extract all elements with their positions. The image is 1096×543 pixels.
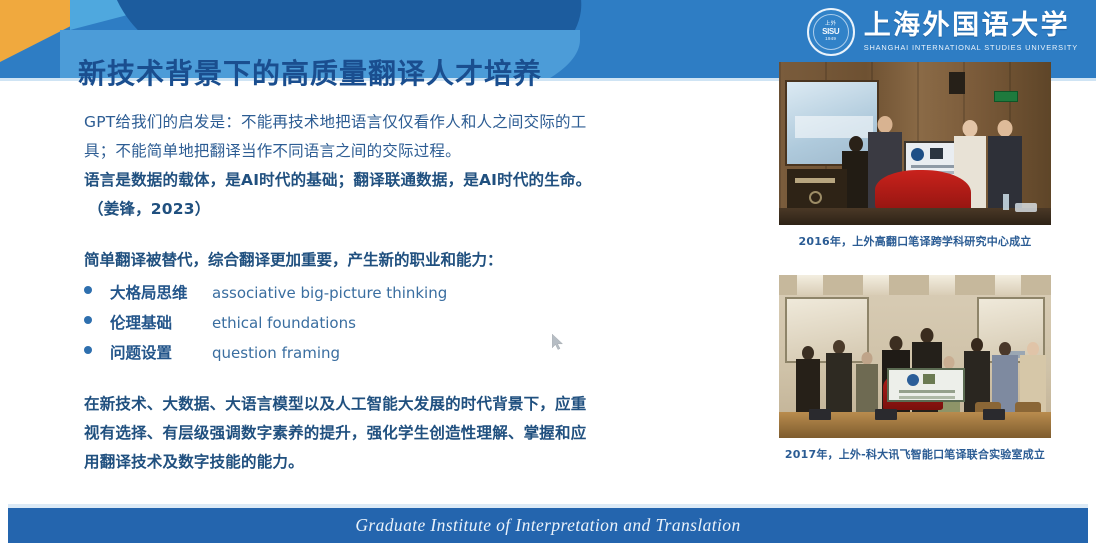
mouse-cursor-icon xyxy=(552,334,564,350)
photo2-person-head xyxy=(1027,342,1039,356)
slide-title: 新技术背景下的高质量翻译人才培养 xyxy=(78,52,542,92)
photo1-person-head xyxy=(998,120,1013,137)
list-item: 大格局思维 associative big-picture thinking xyxy=(84,278,724,308)
photo2-plaque-badge xyxy=(923,374,935,384)
photo2-laptop xyxy=(983,409,1005,420)
university-seal-icon: 上外 SISU 1949 xyxy=(807,8,855,56)
logo-name-cn: 上海外国语大学 xyxy=(864,12,1071,40)
photo2-plaque-seal-icon xyxy=(907,374,919,386)
list-item: 问题设置 question framing xyxy=(84,338,724,368)
list-item-label-cn: 问题设置 xyxy=(110,338,206,368)
photo2-person-body xyxy=(796,359,820,413)
photo2-plaque-text-lines xyxy=(899,390,955,393)
photo1-front-table xyxy=(779,208,1051,225)
photo2-ceiling-light xyxy=(797,275,823,295)
bullet-dot-icon xyxy=(84,286,92,294)
photo2-person-head xyxy=(971,338,983,352)
photo2-person xyxy=(855,352,879,412)
photo1-person-head xyxy=(849,136,863,152)
photo1-podium-seal-icon xyxy=(809,191,822,204)
closing-line-2: 视有选择、有层级强调数字素养的提升，强化学生创造性理解、掌握和应 xyxy=(84,419,724,448)
photo1-plaque-badge xyxy=(930,148,943,159)
ceremony-photo-2017 xyxy=(779,275,1051,438)
photo1-person-head xyxy=(963,120,978,137)
footer-institute-name: Graduate Institute of Interpretation and… xyxy=(355,515,740,536)
photo1-caption: 2016年，上外高翻口笔译跨学科研究中心成立 xyxy=(779,233,1051,249)
photo1-screen-content xyxy=(795,116,873,138)
quote-line-2: 具；不能简单地把翻译当作不同语言之间的交际过程。 xyxy=(84,137,724,166)
photo2-plaque xyxy=(887,368,965,402)
closing-line-1: 在新技术、大数据、大语言模型以及人工智能大发展的时代背景下，应重 xyxy=(84,390,724,419)
closing-line-3: 用翻译技术及数字技能的能力。 xyxy=(84,448,724,477)
ceremony-photo-2016 xyxy=(779,62,1051,225)
photo2-person-head xyxy=(890,336,903,351)
photo1-plaque-text-lines xyxy=(911,165,957,168)
photo2-person-head xyxy=(802,346,814,360)
photo2-ceiling-light xyxy=(929,275,955,295)
photo2-ceiling-light xyxy=(863,275,889,295)
photo2-person-head xyxy=(833,340,845,354)
capability-list-intro: 简单翻译被替代，综合翻译更加重要，产生新的职业和能力： xyxy=(84,246,724,275)
list-item-label-en: ethical foundations xyxy=(212,308,356,338)
photo1-cups xyxy=(1015,203,1037,212)
photo2-laptop xyxy=(875,409,897,420)
photo1-exit-sign xyxy=(994,91,1018,102)
photo1-podium xyxy=(787,169,847,209)
quote-citation: （姜锋，2023） xyxy=(88,195,724,224)
photo2-person xyxy=(825,340,853,412)
seal-year: 1949 xyxy=(825,37,836,42)
quote-line-1: GPT给我们的启发是：不能再技术地把语言仅仅看作人和人之间交际的工 xyxy=(84,108,724,137)
photo2-person xyxy=(963,338,991,412)
photo2-person-body xyxy=(856,364,878,413)
content-spacer xyxy=(84,224,724,246)
bullet-dot-icon xyxy=(84,316,92,324)
seal-initials: SISU xyxy=(822,28,839,36)
list-item-label-en: question framing xyxy=(212,338,340,368)
seal-top-text: 上外 xyxy=(825,22,837,28)
photo1-plaque-seal-icon xyxy=(911,148,924,161)
photo-figure-1: 2016年，上外高翻口笔译跨学科研究中心成立 xyxy=(779,62,1051,249)
list-item-label-cn: 大格局思维 xyxy=(110,278,206,308)
photo1-person-head xyxy=(878,116,893,133)
list-item: 伦理基础 ethical foundations xyxy=(84,308,724,338)
bullet-dot-icon xyxy=(84,346,92,354)
list-item-label-en: associative big-picture thinking xyxy=(212,278,447,308)
photo1-podium-nameplate xyxy=(795,178,835,183)
quote-line-3: 语言是数据的载体，是AI时代的基础；翻译联通数据，是AI时代的生命。 xyxy=(84,166,724,195)
logo-wordmark: 上海外国语大学 SHANGHAI INTERNATIONAL STUDIES U… xyxy=(864,12,1078,51)
list-item-label-cn: 伦理基础 xyxy=(110,308,206,338)
slide-body-content: GPT给我们的启发是：不能再技术地把语言仅仅看作人和人之间交际的工 具；不能简单… xyxy=(84,108,724,477)
university-logo: 上外 SISU 1949 上海外国语大学 SHANGHAI INTERNATIO… xyxy=(807,8,1078,56)
photo2-ceiling-light xyxy=(995,275,1021,295)
presentation-slide: 上外 SISU 1949 上海外国语大学 SHANGHAI INTERNATIO… xyxy=(0,0,1096,543)
photo2-laptop xyxy=(809,409,831,420)
photo2-person xyxy=(795,346,821,412)
photo1-water-bottle xyxy=(1003,194,1009,210)
content-spacer xyxy=(84,368,724,390)
photo2-person-head xyxy=(921,328,934,343)
photo1-speaker-box xyxy=(949,72,965,94)
photo2-person-head xyxy=(999,342,1011,356)
photo2-person-body xyxy=(826,353,852,413)
photo2-caption: 2017年，上外-科大讯飞智能口笔译联合实验室成立 xyxy=(779,446,1051,462)
capability-list: 大格局思维 associative big-picture thinking 伦… xyxy=(84,278,724,368)
slide-footer-bar: Graduate Institute of Interpretation and… xyxy=(8,508,1088,543)
logo-name-en: SHANGHAI INTERNATIONAL STUDIES UNIVERSIT… xyxy=(864,43,1078,52)
photo-figure-2: 2017年，上外-科大讯飞智能口笔译联合实验室成立 xyxy=(779,275,1051,462)
